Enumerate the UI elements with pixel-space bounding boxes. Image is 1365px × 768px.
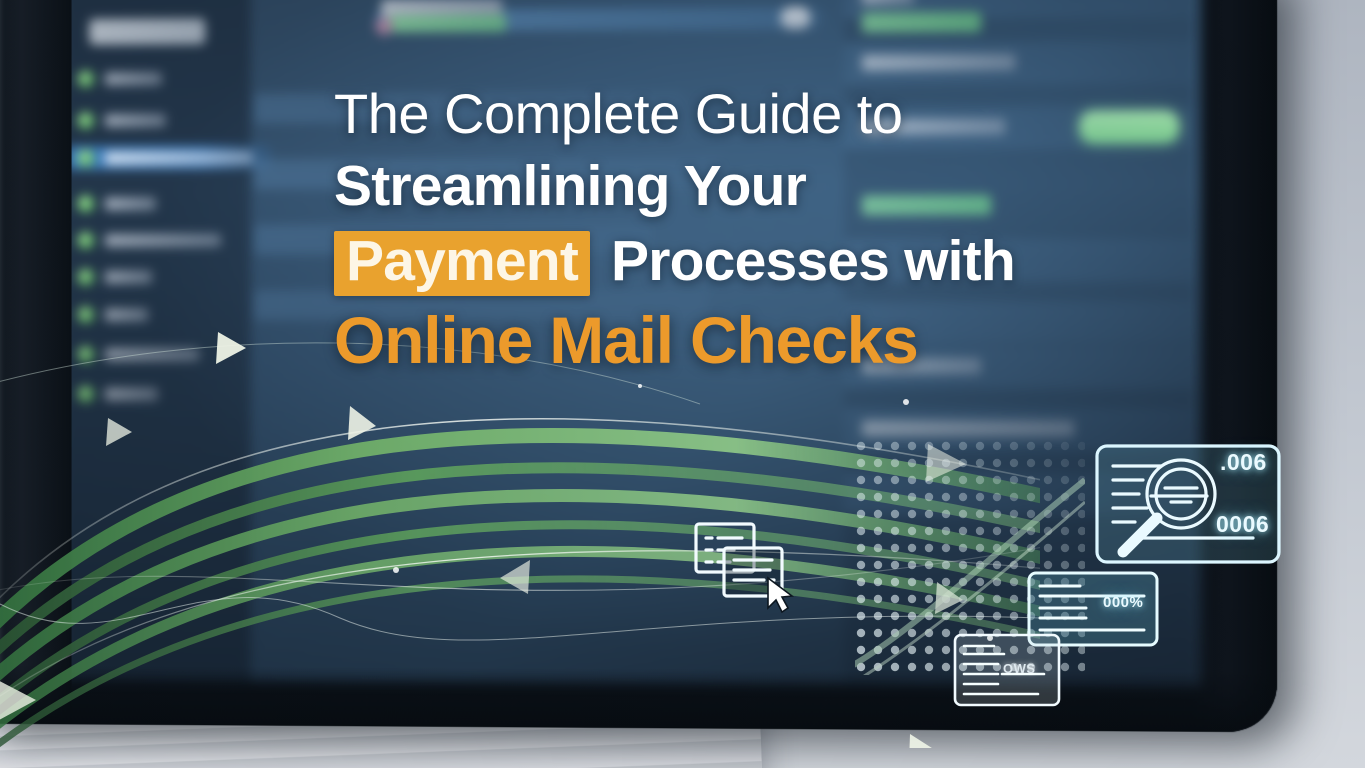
tablet-bezel-bottom <box>0 664 1277 732</box>
headline-line-1: The Complete Guide to <box>334 86 1174 142</box>
check-amount-small: OWS <box>1003 661 1036 676</box>
headline-highlight-payment: Payment <box>334 231 590 296</box>
headline-line-3-rest: Processes with <box>596 229 1015 293</box>
tablet-bezel-left <box>0 0 72 724</box>
headline-block: The Complete Guide to Streamlining Your … <box>334 86 1174 373</box>
bezel-highlight <box>0 0 1 724</box>
tablet-bezel-right <box>1189 0 1277 732</box>
check-amount-top: .006 <box>1220 449 1267 476</box>
headline-line-2: Streamlining Your <box>334 158 1174 215</box>
headline-line-4: Online Mail Checks <box>334 307 1174 373</box>
headline-line-3: Payment Processes with <box>334 231 1174 296</box>
check-amount-bottom: 0006 <box>1216 511 1269 538</box>
poster-canvas: PAY TO THE ORDER OF •••• AMOUNT $••••• M… <box>0 0 1365 768</box>
check-amount-mid: 000% <box>1103 594 1143 611</box>
